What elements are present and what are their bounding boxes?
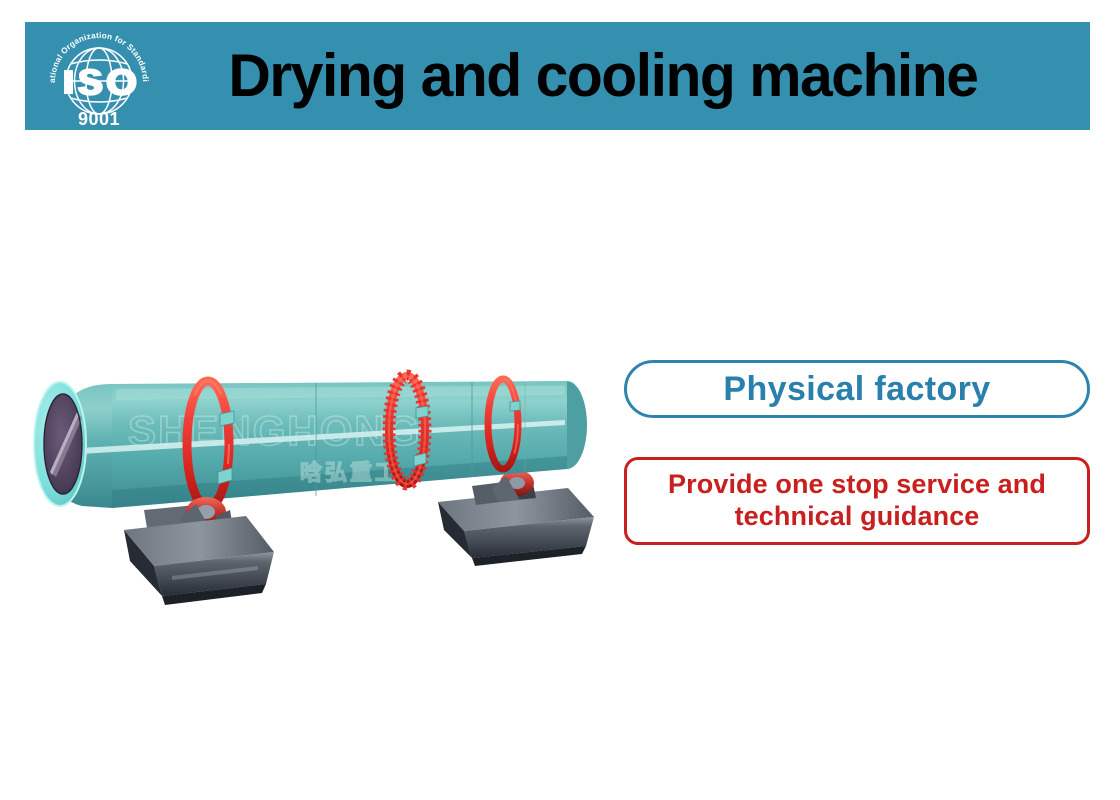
page-title: Drying and cooling machine: [164, 46, 1080, 106]
service-label-line1: Provide one stop service and: [668, 469, 1046, 501]
service-callout[interactable]: Provide one stop service and technical g…: [624, 457, 1090, 545]
watermark-cjk-text: 晗弘重工: [300, 460, 400, 486]
service-label-group: Provide one stop service and technical g…: [668, 469, 1046, 533]
header-banner: International Organization for Standardi…: [25, 22, 1090, 130]
physical-factory-label: Physical factory: [723, 370, 990, 409]
support-base-rear: [438, 470, 594, 566]
drum-inlet-opening: [32, 382, 86, 506]
service-label-line2: technical guidance: [668, 501, 1046, 533]
support-base-front: [124, 497, 274, 605]
watermark-latin-text: SHENGHONG: [128, 407, 421, 454]
physical-factory-callout[interactable]: Physical factory: [624, 360, 1090, 418]
svg-text:9001: 9001: [78, 109, 120, 128]
product-image-rotary-dryer: SHENGHONG 晗弘重工: [20, 340, 630, 620]
iso-9001-logo: International Organization for Standardi…: [43, 24, 155, 128]
